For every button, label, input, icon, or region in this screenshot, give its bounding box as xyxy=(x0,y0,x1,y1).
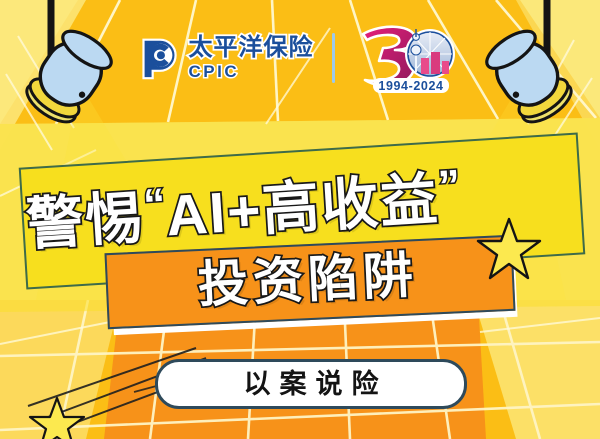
headline-quoted-term: AI+高收益 xyxy=(164,171,440,245)
pill-text: 以案说险 xyxy=(235,371,388,398)
cpic-wordmark: 太平洋保险 CPIC xyxy=(189,36,314,80)
band-text: 投资陷阱 xyxy=(197,250,419,310)
cpic-brand-logo: 太平洋保险 CPIC xyxy=(138,36,314,80)
anniversary-30-icon: 1994-2024 xyxy=(353,20,463,96)
pill-box: 以案说险 xyxy=(155,359,467,409)
anniversary-30-logo: 1994-2024 xyxy=(353,20,463,96)
cpic-name-en: CPIC xyxy=(189,63,314,80)
header-logo-bar: 太平洋保险 CPIC xyxy=(0,18,600,98)
star-icon-right xyxy=(476,216,542,282)
star-icon-bottom-left xyxy=(28,395,86,439)
headline-word-1: 警惕 xyxy=(25,189,146,253)
quote-close-mark: ” xyxy=(437,164,462,209)
anniversary-years: 1994-2024 xyxy=(378,79,443,93)
quote-open-mark: “ xyxy=(142,183,167,228)
poster-canvas: 太平洋保险 CPIC xyxy=(0,0,600,439)
vertical-divider-icon xyxy=(332,33,335,83)
cpic-name-cn: 太平洋保险 xyxy=(189,36,314,60)
cpic-p-mark-icon xyxy=(138,36,182,80)
